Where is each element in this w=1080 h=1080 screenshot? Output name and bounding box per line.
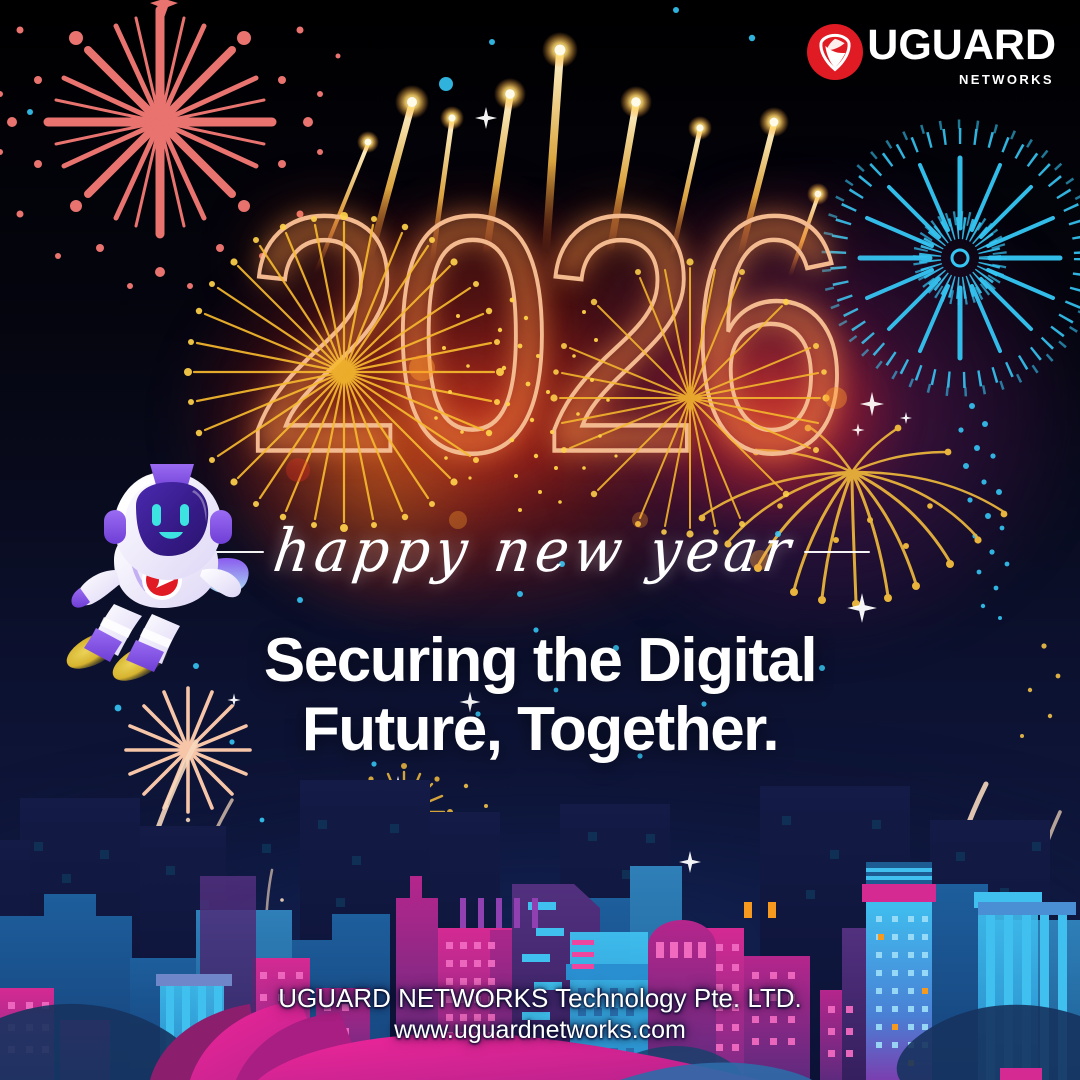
new-year-poster: 2026 <box>0 0 1080 1080</box>
greeting-rule-right <box>804 551 870 553</box>
greeting-script-text: happy new year <box>270 522 799 581</box>
logo-wordmark-group: UGUARD NETWORKS <box>867 24 1056 87</box>
logo-sub-wordmark: NETWORKS <box>959 72 1054 87</box>
uguard-shield-icon <box>807 24 863 80</box>
mascot-ear-left <box>104 510 126 544</box>
logo-wordmark: UGUARD <box>867 24 1056 67</box>
footer-website[interactable]: www.uguardnetworks.com <box>0 1015 1080 1046</box>
astronaut-robot-mascot <box>52 442 282 692</box>
year-block: 2026 <box>0 196 1080 472</box>
mascot-ear-right <box>210 510 232 544</box>
footer: UGUARD NETWORKS Technology Pte. LTD. www… <box>0 982 1080 1046</box>
year-text: 2026 <box>243 179 836 488</box>
brand-logo[interactable]: UGUARD NETWORKS <box>807 24 1056 87</box>
headline-line-2: Future, Together. <box>0 695 1080 764</box>
footer-company: UGUARD NETWORKS Technology Pte. LTD. <box>0 982 1080 1015</box>
mascot-eye-right <box>180 504 189 526</box>
mascot-eye-left <box>152 504 161 526</box>
stripe-accents-pink <box>572 940 594 969</box>
